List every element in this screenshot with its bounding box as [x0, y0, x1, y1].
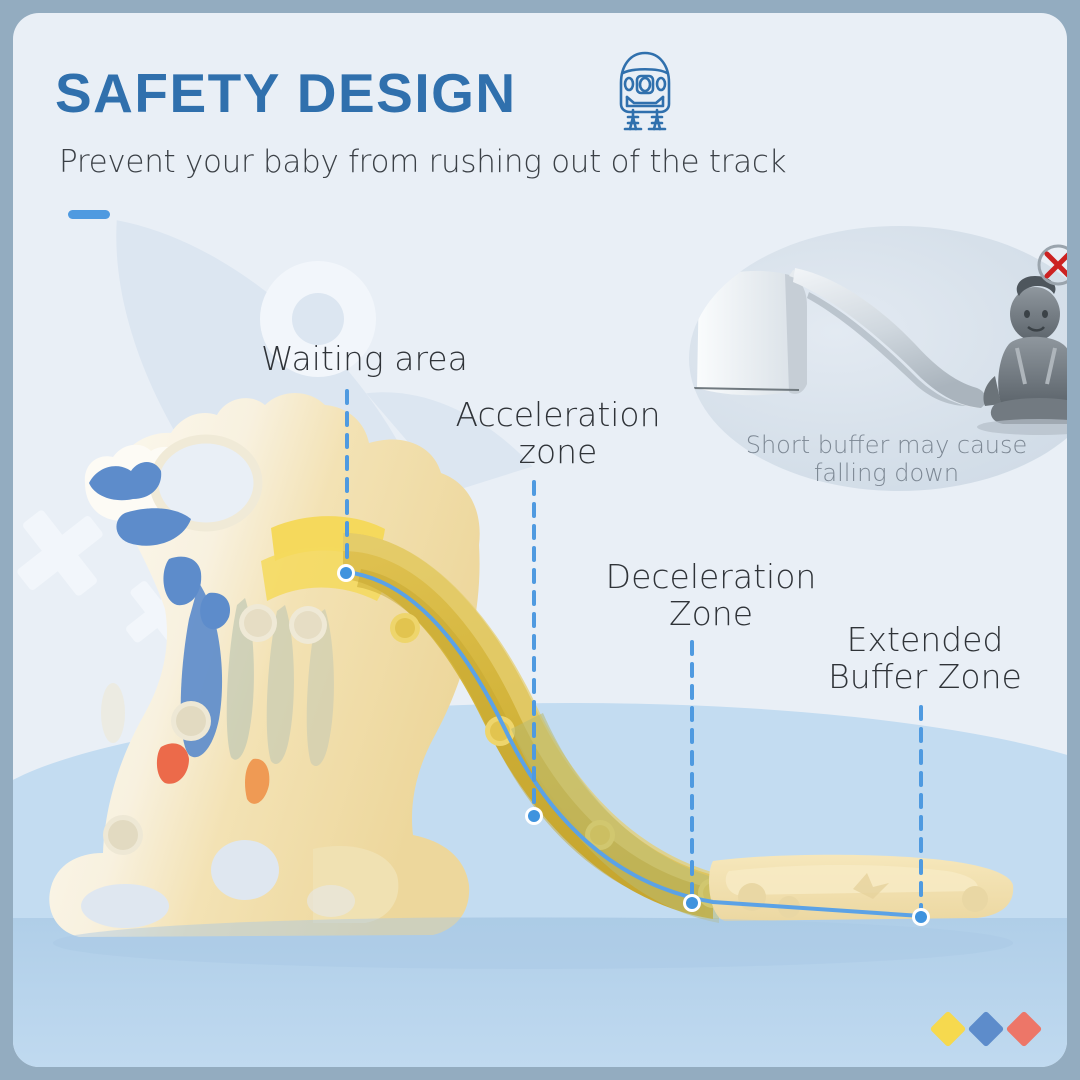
- page-subtitle: Prevent your baby from rushing out of th…: [59, 144, 786, 180]
- screenshot-root: SAFETY DESIGN Preve: [0, 0, 1080, 1080]
- annotation-label-waiting-area: Waiting area: [261, 340, 468, 377]
- color-swatch-group: [935, 1013, 1055, 1047]
- annotation-label-acceleration-zone: Acceleration zone: [438, 396, 678, 471]
- annotation-label-deceleration-zone: Deceleration Zone: [591, 558, 831, 633]
- red-x-icon: [1034, 241, 1067, 289]
- inset-caption: Short buffer may cause falling down: [689, 431, 1067, 488]
- accent-underline: [68, 210, 110, 219]
- page-title: SAFETY DESIGN: [55, 61, 517, 125]
- seated-child-silhouette: [983, 276, 1067, 424]
- rocket-lander-icon: [610, 49, 680, 137]
- content-panel: SAFETY DESIGN Preve: [13, 13, 1067, 1067]
- annotation-label-extended-buffer-zone: Extended Buffer Zone: [815, 621, 1035, 696]
- swatch-blue: [968, 1011, 1005, 1048]
- swatch-yellow: [930, 1011, 967, 1048]
- header: SAFETY DESIGN Preve: [13, 13, 1067, 228]
- swatch-red: [1006, 1011, 1043, 1048]
